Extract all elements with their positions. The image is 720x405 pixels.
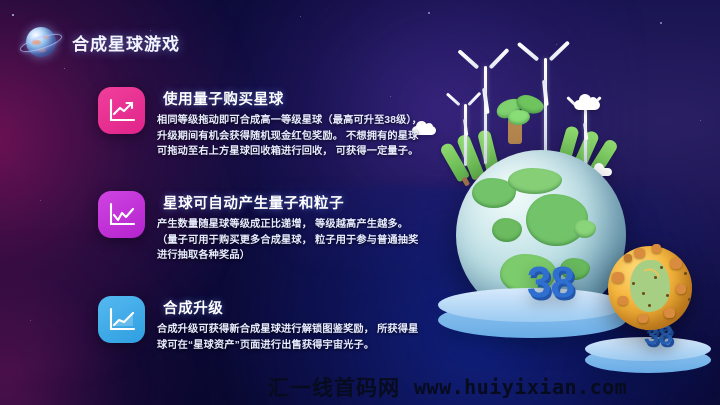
zigzag-line-chart-icon: [98, 191, 145, 238]
feature-title: 合成升级: [163, 297, 418, 318]
page-title: 合成星球游戏: [72, 30, 180, 55]
area-chart-icon: [98, 296, 145, 343]
golden-rocky-planet-icon: [608, 246, 692, 330]
watermark: 汇一线首码网 www.huiyixian.com: [268, 372, 627, 402]
feature-title: 星球可自动产生量子和粒子: [163, 192, 418, 213]
planet-ring-icon: [22, 23, 60, 61]
feature-body: 相同等级拖动即可合成高一等级星球（最高可升至38级）， 升级期间有机会获得随机现…: [157, 113, 422, 160]
feature-title: 使用量子购买星球: [163, 88, 422, 109]
watermark-url: www.huiyixian.com: [414, 375, 627, 399]
trending-up-chart-icon: [98, 87, 145, 134]
watermark-site-name: 汇一线首码网: [268, 372, 400, 402]
feature-block-buy-planet: 使用量子购买星球 相同等级拖动即可合成高一等级星球（最高可升至38级）， 升级期…: [98, 87, 422, 160]
feature-block-merge-upgrade: 合成升级 合成升级可获得新合成星球进行解锁图鉴奖励， 所获得星 球可在“星球资产…: [98, 296, 418, 353]
feature-body: 产生数量随星球等级成正比递增， 等级越高产生越多。 （量子可用于购买更多合成星球…: [157, 217, 418, 264]
feature-body: 合成升级可获得新合成星球进行解锁图鉴奖励， 所获得星 球可在“星球资产”页面进行…: [157, 322, 418, 353]
banner-header: 合成星球游戏: [22, 22, 180, 62]
promo-banner: 合成星球游戏 使用量子购买星球 相同等级拖动即可合成高一等级星球（最高可升至38…: [0, 0, 720, 405]
podium-large-level-label: 38: [527, 258, 574, 308]
feature-block-auto-generate: 星球可自动产生量子和粒子 产生数量随星球等级成正比递增， 等级越高产生越多。 （…: [98, 191, 418, 264]
